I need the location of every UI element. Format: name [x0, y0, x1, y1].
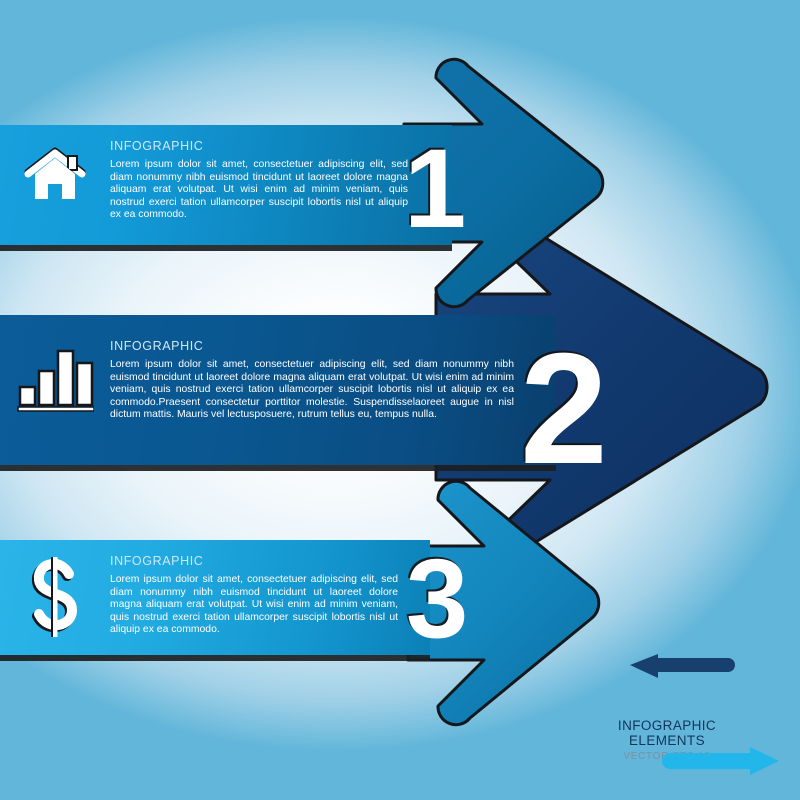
bar-chart-icon	[0, 339, 110, 413]
section-banner-2[interactable]: INFOGRAPHIC Lorem ipsum dolor sit amet, …	[0, 315, 556, 465]
home-icon	[0, 139, 110, 203]
infographic-canvas: INFOGRAPHIC Lorem ipsum dolor sit amet, …	[0, 0, 800, 800]
section-title-1: INFOGRAPHIC	[110, 139, 408, 153]
section-text-2: INFOGRAPHIC Lorem ipsum dolor sit amet, …	[110, 339, 526, 422]
section-text-1: INFOGRAPHIC Lorem ipsum dolor sit amet, …	[110, 139, 420, 222]
footer-title-line1: INFOGRAPHIC	[578, 718, 756, 733]
section-body-1: Lorem ipsum dolor sit amet, consectetuer…	[110, 159, 408, 222]
arrow-right-icon	[660, 745, 782, 782]
section-title-2: INFOGRAPHIC	[110, 339, 514, 353]
section-banner-1[interactable]: INFOGRAPHIC Lorem ipsum dolor sit amet, …	[0, 125, 452, 245]
section-banner-3[interactable]: INFOGRAPHIC Lorem ipsum dolor sit amet, …	[0, 540, 430, 655]
step-number-2: 2	[520, 330, 608, 488]
arrow-left-icon	[628, 653, 738, 684]
section-body-2: Lorem ipsum dolor sit amet, consectetuer…	[110, 359, 514, 422]
section-text-3: INFOGRAPHIC Lorem ipsum dolor sit amet, …	[110, 554, 410, 637]
dollar-icon	[0, 554, 110, 638]
step-number-3: 3	[406, 543, 468, 655]
section-body-3: Lorem ipsum dolor sit amet, consectetuer…	[110, 574, 398, 637]
section-title-3: INFOGRAPHIC	[110, 554, 398, 568]
step-number-1: 1	[404, 133, 466, 245]
